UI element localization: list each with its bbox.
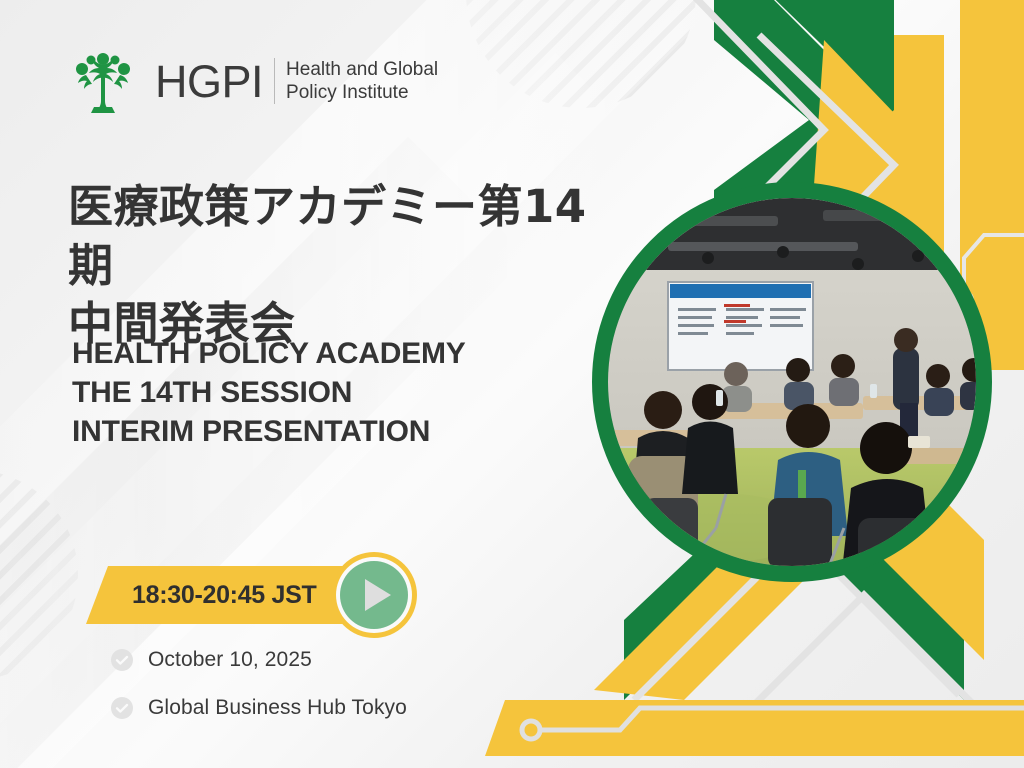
- striped-circle-left-decoration: [0, 470, 78, 680]
- event-title-english-line2: THE 14TH SESSION: [72, 373, 592, 412]
- logo-fullname-line1: Health and Global: [286, 58, 438, 81]
- logo-divider: [274, 58, 275, 104]
- event-date-label: October 10, 2025: [148, 648, 312, 672]
- check-circle-icon: [110, 696, 134, 720]
- play-icon: [365, 579, 391, 611]
- event-photo: [592, 182, 992, 582]
- event-details: October 10, 2025 Global Business Hub Tok…: [110, 648, 407, 720]
- event-venue-label: Global Business Hub Tokyo: [148, 696, 407, 720]
- event-time-badge-group: 18:30-20:45 JST: [86, 566, 355, 624]
- play-button-disc: [340, 561, 408, 629]
- event-title-english-line1: HEALTH POLICY ACADEMY: [72, 334, 592, 373]
- play-button[interactable]: [331, 552, 417, 638]
- tree-logo-icon: [64, 47, 142, 115]
- event-title-japanese: 医療政策アカデミー第14期 中間発表会: [68, 178, 628, 354]
- logo-acronym: HGPI: [155, 59, 263, 104]
- list-item: October 10, 2025: [110, 648, 407, 672]
- event-banner: HGPI Health and Global Policy Institute …: [0, 0, 1024, 768]
- logo-fullname: Health and Global Policy Institute: [286, 58, 438, 104]
- event-title-english-line3: INTERIM PRESENTATION: [72, 412, 592, 451]
- hgpi-logo[interactable]: HGPI Health and Global Policy Institute: [64, 47, 438, 115]
- logo-fullname-line2: Policy Institute: [286, 81, 438, 104]
- event-time-badge: 18:30-20:45 JST: [86, 566, 355, 624]
- list-item: Global Business Hub Tokyo: [110, 696, 407, 720]
- check-circle-icon: [110, 648, 134, 672]
- play-button-ring: [336, 557, 412, 633]
- event-title-english: HEALTH POLICY ACADEMY THE 14TH SESSION I…: [72, 334, 592, 451]
- event-time-label: 18:30-20:45 JST: [132, 581, 317, 610]
- event-title-japanese-line1: 医療政策アカデミー第14期: [68, 178, 628, 295]
- event-photo-image: [608, 198, 976, 566]
